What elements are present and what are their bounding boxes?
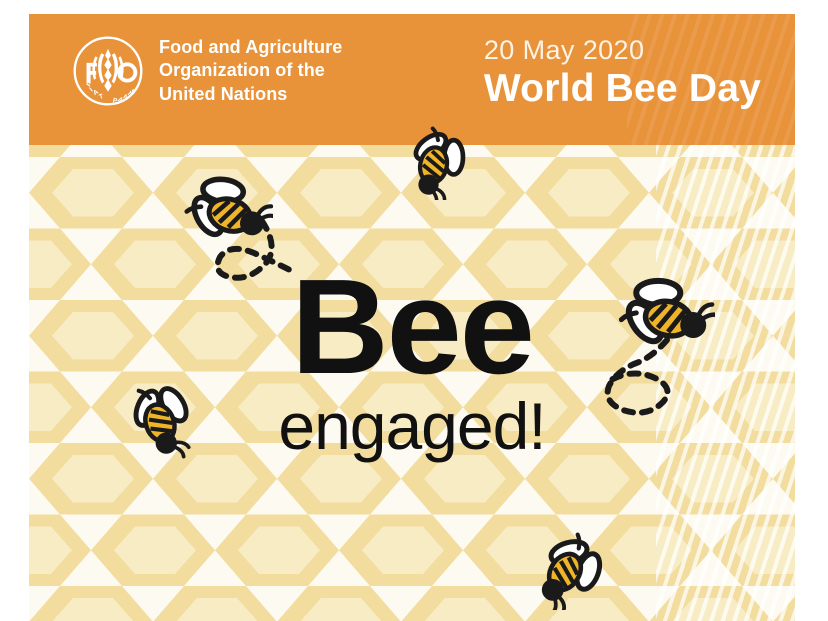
flight-trail-right <box>581 336 701 432</box>
fao-organization-name: Food and Agriculture Organization of the… <box>159 36 342 105</box>
event-block: 20 May 2020 World Bee Day <box>484 36 761 112</box>
fao-emblem-icon: F I A T P A N I S <box>71 34 145 108</box>
flight-trail-upper-left <box>184 219 304 309</box>
fao-logo-block: F I A T P A N I S Food and Agriculture O… <box>71 34 342 108</box>
svg-text:T: T <box>98 93 105 101</box>
bee-left <box>115 378 201 460</box>
poster-canvas: F I A T P A N I S Food and Agriculture O… <box>29 14 795 621</box>
bee-top <box>394 122 474 200</box>
event-date: 20 May 2020 <box>484 36 761 64</box>
event-title: World Bee Day <box>484 67 761 111</box>
bee-bottom <box>523 526 611 610</box>
